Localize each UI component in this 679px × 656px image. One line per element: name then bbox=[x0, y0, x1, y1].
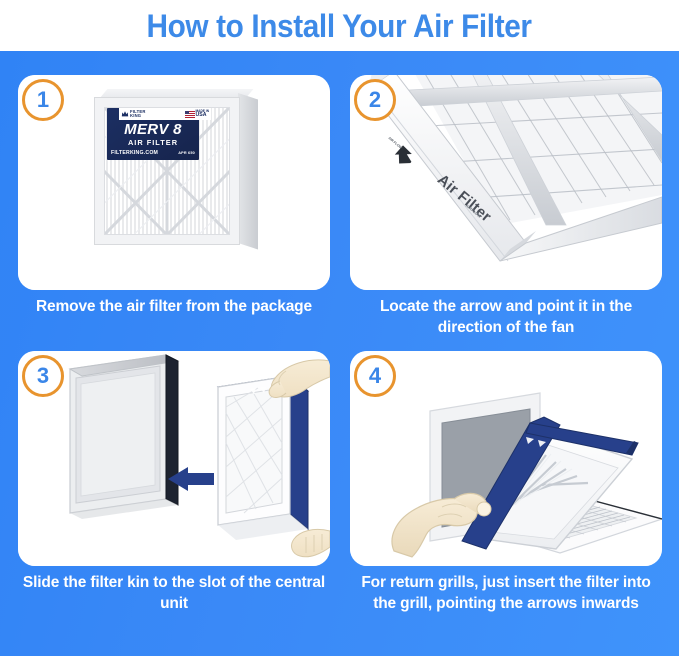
step-4-image-card bbox=[350, 351, 662, 566]
infographic-sheet: How to Install Your Air Filter bbox=[0, 0, 679, 656]
step-3-image-card bbox=[18, 351, 330, 566]
filter-corner-photo: Air Filter AIRFLOW AIR FLOW bbox=[350, 75, 662, 290]
made-in-usa-text: MADE IN USA bbox=[196, 110, 209, 119]
slide-filter-illustration bbox=[18, 351, 330, 566]
brand-line-2: KING bbox=[130, 113, 141, 118]
step-1-image-card: FILTER KING MADE IN USA bbox=[18, 75, 330, 290]
step-number-badge-4: 4 bbox=[354, 355, 396, 397]
filter-king-logo: FILTER KING bbox=[121, 110, 146, 119]
step-caption-4: For return grills, just insert the filte… bbox=[350, 573, 662, 615]
crown-icon bbox=[121, 110, 129, 118]
website-text: FILTERKING.COM bbox=[111, 150, 158, 156]
step-number-badge-3: 3 bbox=[22, 355, 64, 397]
air-filter-product: FILTER KING MADE IN USA bbox=[92, 89, 260, 249]
step-card-2: Air Filter AIRFLOW AIR FLOW 2 Locate the… bbox=[350, 75, 662, 347]
page-title: How to Install Your Air Filter bbox=[147, 10, 532, 42]
step-card-4: 4 For return grills, just insert the fil… bbox=[350, 351, 662, 639]
return-grill-illustration bbox=[350, 351, 662, 566]
step-caption-2: Locate the arrow and point it in the dir… bbox=[350, 297, 662, 339]
air-filter-panel bbox=[218, 376, 308, 540]
central-unit bbox=[70, 355, 178, 519]
us-flag-icon bbox=[185, 111, 195, 118]
header: How to Install Your Air Filter bbox=[0, 0, 679, 51]
filter-label-header: FILTER KING MADE IN USA bbox=[119, 108, 211, 120]
merv-rating: MERV 8 bbox=[107, 122, 199, 137]
step-number-badge-2: 2 bbox=[354, 79, 396, 121]
hand-lower bbox=[292, 529, 330, 556]
step-card-3: 3 Slide the filter kin to the slot of th… bbox=[18, 351, 330, 639]
brand-name: FILTER KING bbox=[130, 110, 146, 119]
step-caption-3: Slide the filter kin to the slot of the … bbox=[18, 573, 330, 615]
filter-corner-drawing bbox=[350, 75, 662, 290]
country-label: USA bbox=[196, 113, 209, 118]
step-card-1: FILTER KING MADE IN USA bbox=[18, 75, 330, 347]
made-in-usa-badge: MADE IN USA bbox=[185, 110, 209, 119]
step-2-image-card: Air Filter AIRFLOW AIR FLOW bbox=[350, 75, 662, 290]
filter-side-edge bbox=[238, 93, 258, 249]
hand-upper bbox=[269, 360, 330, 398]
label-footer: FILTERKING.COM APR 650 bbox=[111, 150, 195, 156]
air-filter-product-photo: FILTER KING MADE IN USA bbox=[18, 75, 330, 290]
step-caption-1: Remove the air filter from the package bbox=[18, 297, 330, 318]
apr-rating: APR 650 bbox=[178, 151, 195, 155]
filter-front-face: FILTER KING MADE IN USA bbox=[94, 97, 240, 245]
step-number-badge-1: 1 bbox=[22, 79, 64, 121]
label-subtitle: AIR FILTER bbox=[107, 139, 199, 146]
filter-label: FILTER KING MADE IN USA bbox=[107, 108, 199, 160]
steps-grid: FILTER KING MADE IN USA bbox=[0, 51, 679, 656]
